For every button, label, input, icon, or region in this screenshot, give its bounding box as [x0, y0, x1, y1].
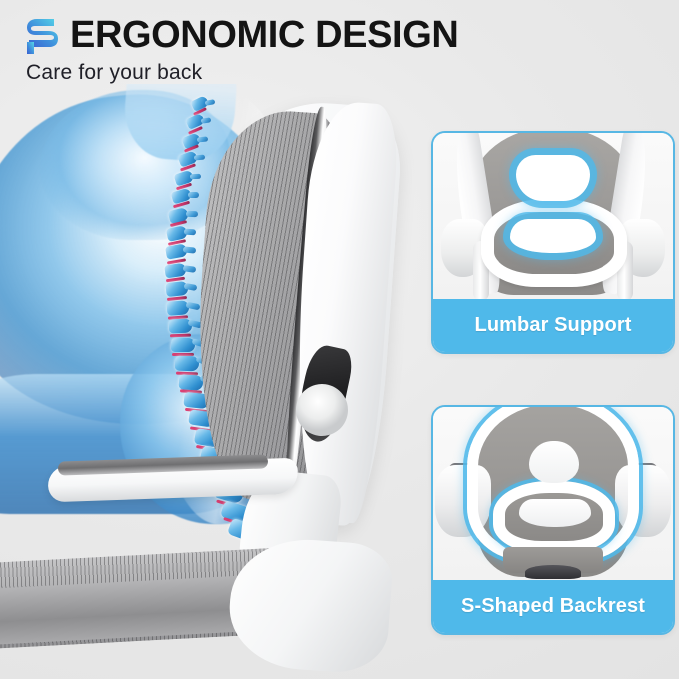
page-title: ERGONOMIC DESIGN: [70, 13, 458, 57]
upper-back-pad: [529, 441, 579, 483]
lower-back-pad: [519, 499, 591, 527]
header: ERGONOMIC DESIGN Care for your back: [24, 8, 544, 90]
page-subtitle: Care for your back: [26, 60, 202, 86]
upper-lumbar-highlight: [516, 155, 590, 201]
office-chair: [0, 84, 430, 679]
chair-back-front-view-lumbar-highlight: [433, 133, 673, 299]
hero-illustration: {}: [0, 84, 430, 679]
panel-caption-s-shaped-backrest: S-Shaped Backrest: [433, 580, 673, 633]
s-logo-mark-icon: [25, 16, 59, 56]
feature-panel-lumbar-support[interactable]: Lumbar Support: [431, 131, 675, 354]
product-feature-image: ERGONOMIC DESIGN Care for your back {}: [0, 0, 679, 679]
panel-caption-lumbar-support: Lumbar Support: [433, 299, 673, 352]
chair-base: [525, 565, 581, 579]
lower-lumbar-highlight: [510, 219, 596, 253]
chair-back-front-view-s-curve-outline: [433, 407, 673, 580]
feature-panel-s-shaped-backrest[interactable]: S-Shaped Backrest: [431, 405, 675, 635]
